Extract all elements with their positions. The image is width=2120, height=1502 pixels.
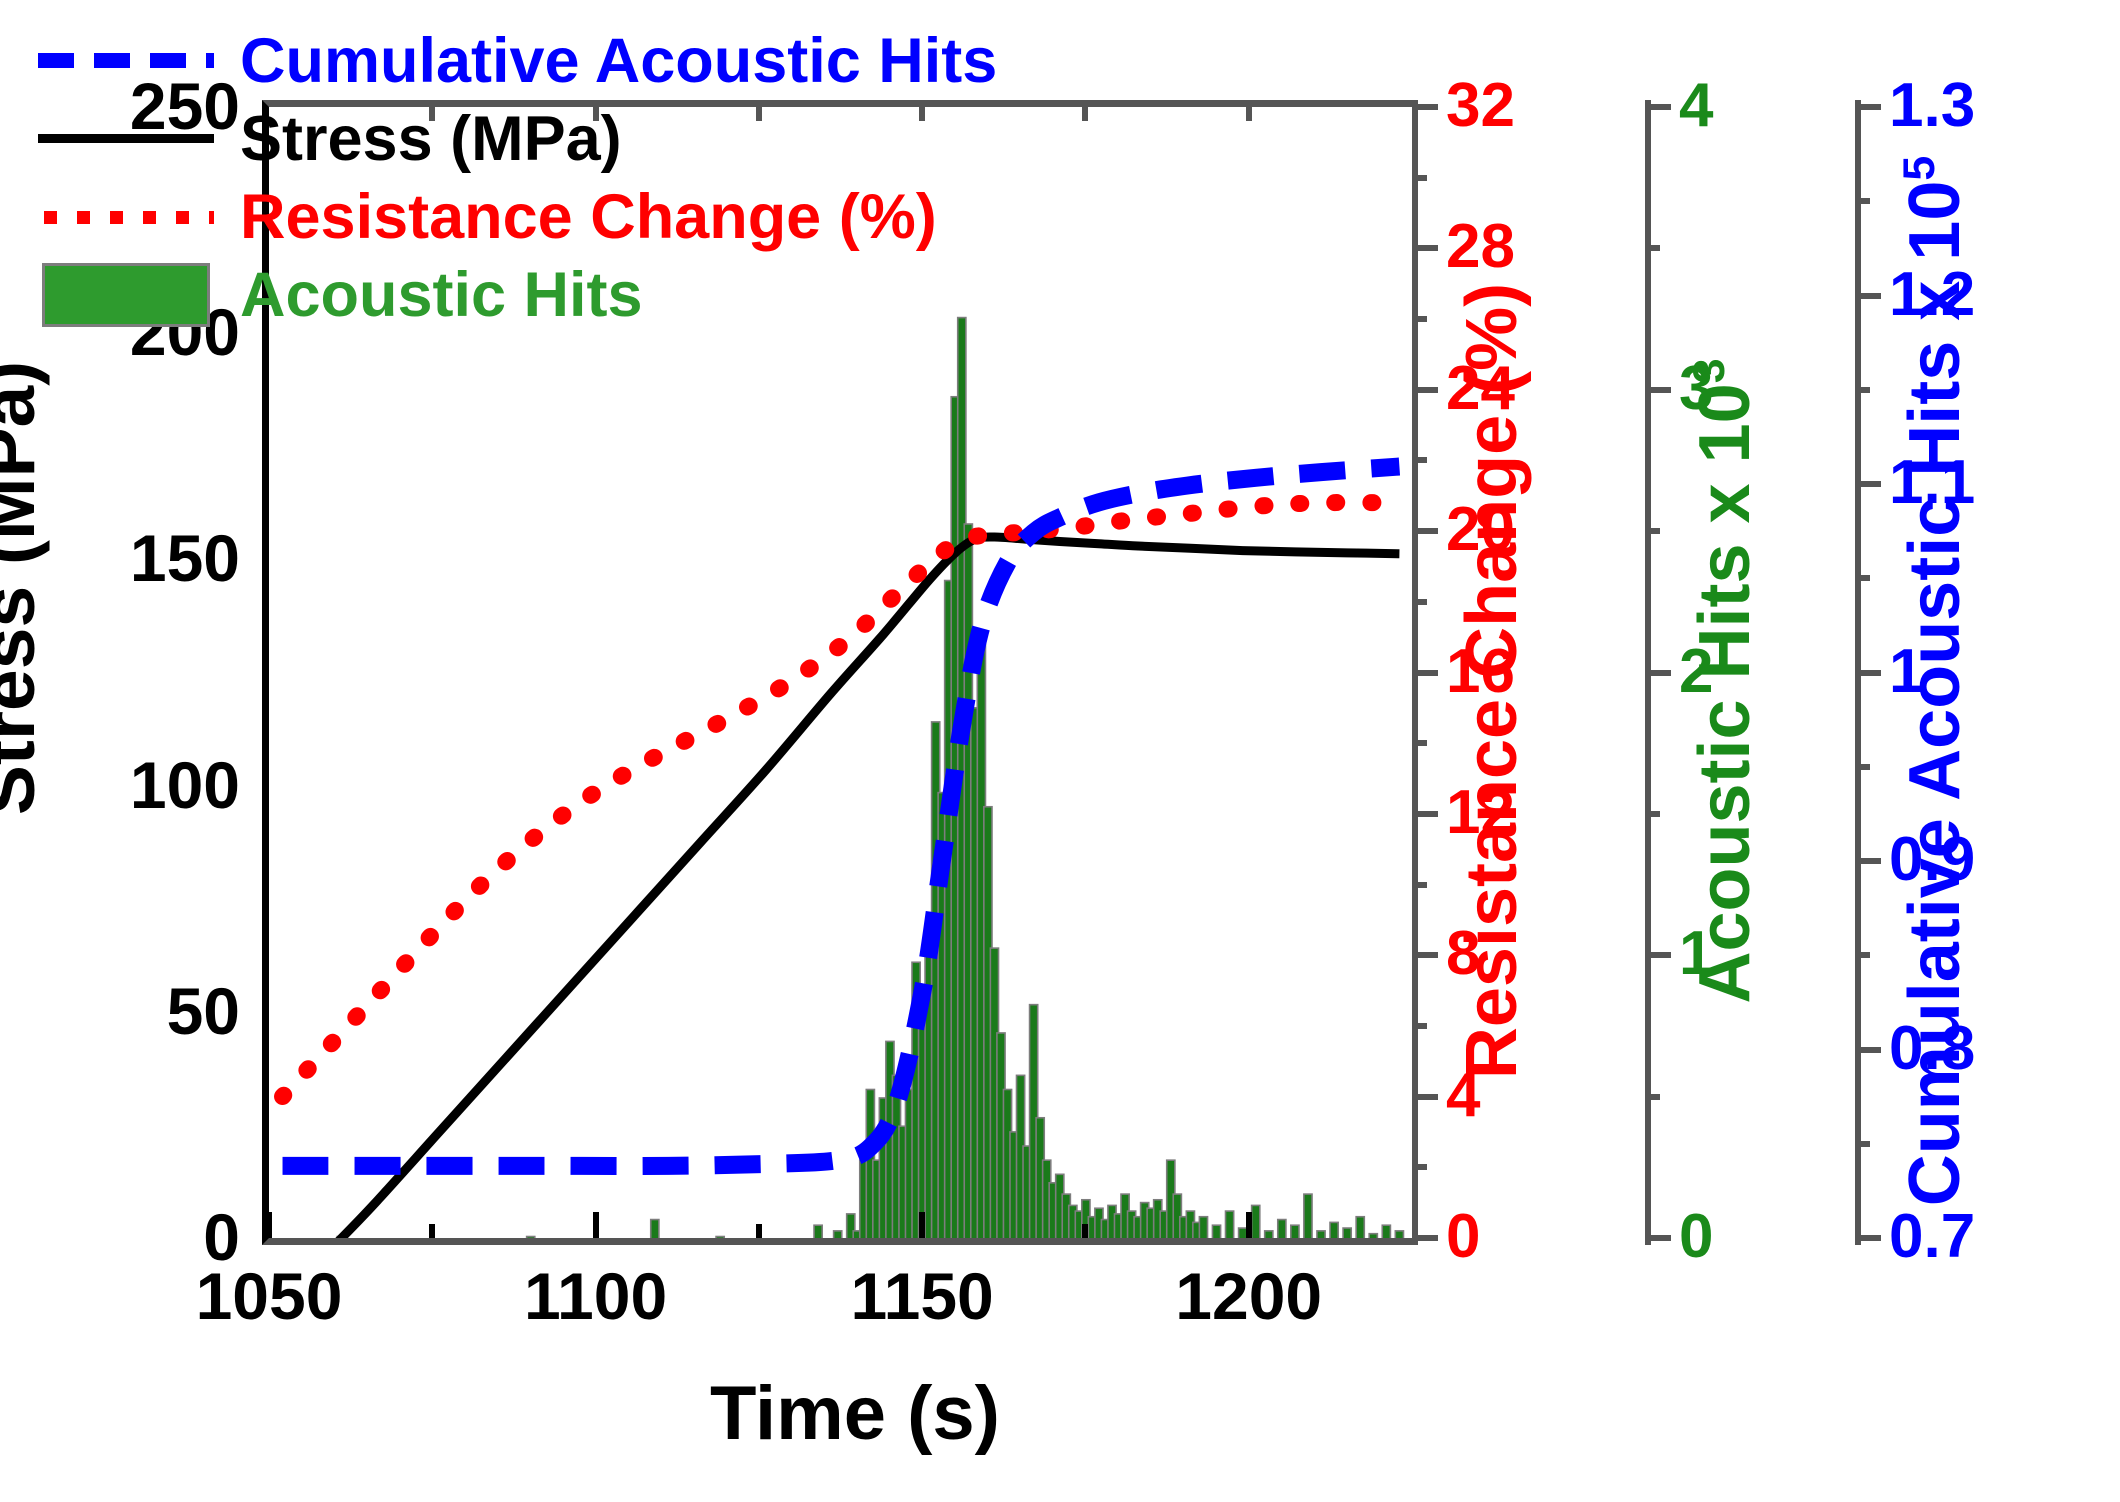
x-minor-tick-mark <box>429 1224 435 1238</box>
bar <box>1317 1231 1325 1238</box>
bar <box>814 1225 822 1238</box>
axis-tick-mark <box>1855 858 1881 864</box>
axis-title: Cumulative Acoustic Hits x 105 <box>1894 81 1976 1281</box>
axis-minor-tick-mark <box>1645 245 1660 251</box>
axis-minor-tick-mark <box>1412 1164 1427 1170</box>
x-tick-mark <box>266 1212 272 1238</box>
x-tick-label: 1150 <box>802 1258 1042 1334</box>
axis-tick-mark <box>1855 481 1881 487</box>
legend-swatch-mark <box>38 53 214 68</box>
axis-minor-tick-mark <box>1855 387 1870 393</box>
bar <box>1356 1217 1364 1238</box>
series-line <box>283 503 1400 1097</box>
axis-minor-tick-mark <box>1645 528 1660 534</box>
axis-tick-mark <box>1855 293 1881 299</box>
series-line <box>283 467 1400 1166</box>
axis-minor-tick-mark <box>1412 457 1427 463</box>
x-axis-title: Time (s) <box>595 1370 1115 1457</box>
axis-minor-tick-mark <box>1855 1141 1870 1147</box>
axis-tick-mark <box>1645 670 1671 676</box>
x-tick-mark <box>593 1212 599 1238</box>
axis-minor-tick-mark <box>1645 1094 1660 1100</box>
legend-swatch-dotted <box>38 197 214 237</box>
axis-title: Acoustic Hits x 103 <box>1684 81 1766 1281</box>
x-tick-label: 1100 <box>476 1258 716 1334</box>
axis-tick-mark <box>1412 811 1438 817</box>
legend-label: Acoustic Hits <box>240 264 643 327</box>
axis-minor-tick-mark <box>1855 575 1870 581</box>
axis-minor-tick-mark <box>1412 1023 1427 1029</box>
bar <box>1226 1211 1234 1238</box>
legend-swatch-mark <box>38 134 214 143</box>
legend-swatch-mark <box>42 263 210 327</box>
axis-minor-tick-mark <box>1412 882 1427 888</box>
axis-tick-mark <box>1645 104 1671 110</box>
axis-tick-mark <box>1855 104 1881 110</box>
bar <box>1369 1234 1377 1238</box>
axis-title-text: Resistance Change (%) <box>1452 283 1532 1079</box>
legend-item[interactable]: Stress (MPa) <box>38 100 997 178</box>
bar <box>1252 1205 1260 1238</box>
axis-tick-mark <box>1412 952 1438 958</box>
x-tick-label: 1050 <box>149 1258 389 1334</box>
axis-tick-mark <box>1855 1235 1881 1241</box>
bar <box>1343 1228 1351 1238</box>
legend: Cumulative Acoustic HitsStress (MPa)Resi… <box>38 22 997 334</box>
legend-swatch-solid <box>38 119 214 159</box>
bar <box>834 1231 842 1238</box>
axis-tick-mark <box>1645 1235 1671 1241</box>
x-minor-tick-mark <box>1082 1224 1088 1238</box>
legend-swatch-bar <box>38 275 214 315</box>
bar <box>1212 1225 1220 1238</box>
axis-minor-tick-mark <box>1855 198 1870 204</box>
legend-item[interactable]: Acoustic Hits <box>38 256 997 334</box>
axis-minor-tick-mark <box>1412 175 1427 181</box>
bar <box>1382 1225 1390 1238</box>
axis-tick-mark <box>1412 387 1438 393</box>
legend-label: Cumulative Acoustic Hits <box>240 30 997 93</box>
bar <box>1278 1220 1286 1238</box>
legend-swatch-mark <box>44 211 214 224</box>
bar <box>527 1237 535 1238</box>
axis-tick-mark <box>1645 952 1671 958</box>
legend-swatch-dashed <box>38 41 214 81</box>
x-tick-mark <box>1246 1212 1252 1238</box>
x-top-tick-mark <box>1246 107 1252 121</box>
bar <box>1265 1231 1273 1238</box>
legend-item[interactable]: Resistance Change (%) <box>38 178 997 256</box>
axis-tick-mark <box>1855 670 1881 676</box>
bar <box>1395 1231 1403 1238</box>
axis-title-text: Cumulative Acoustic Hits x 10 <box>1895 181 1975 1207</box>
axis-minor-tick-mark <box>1645 811 1660 817</box>
axis-minor-tick-mark <box>1412 316 1427 322</box>
axis-tick-mark <box>1412 104 1438 110</box>
axis-tick-mark <box>1412 1235 1438 1241</box>
axis-tick-mark <box>1855 1047 1881 1053</box>
bar <box>716 1237 724 1238</box>
axis-minor-tick-mark <box>1412 740 1427 746</box>
bar <box>1291 1225 1299 1238</box>
legend-item[interactable]: Cumulative Acoustic Hits <box>38 22 997 100</box>
bar <box>651 1220 659 1238</box>
axis-tick-mark <box>1412 1094 1438 1100</box>
axis-minor-tick-mark <box>1855 764 1870 770</box>
axis-title: Resistance Change (%) <box>1451 81 1533 1281</box>
axis-title-exponent: 3 <box>1685 358 1734 383</box>
x-tick-label: 1200 <box>1129 1258 1369 1334</box>
x-tick-mark <box>919 1212 925 1238</box>
y-tick-label: 50 <box>60 978 240 1044</box>
acoustic-hits-bars <box>337 318 1403 1238</box>
bar <box>1199 1217 1207 1238</box>
axis-tick-mark <box>1412 245 1438 251</box>
chart-figure: Stress (MPa) 050100150200250 10501100115… <box>0 0 2120 1502</box>
axis-tick-mark <box>1645 387 1671 393</box>
bar <box>1330 1222 1338 1238</box>
x-minor-tick-mark <box>756 1224 762 1238</box>
axis-minor-tick-mark <box>1412 599 1427 605</box>
legend-label: Resistance Change (%) <box>240 186 937 249</box>
bar <box>1304 1194 1312 1238</box>
axis-tick-mark <box>1412 670 1438 676</box>
y-tick-label: 100 <box>60 752 240 818</box>
axis-title-exponent: 5 <box>1895 156 1944 181</box>
x-top-tick-mark <box>1082 107 1088 121</box>
legend-label: Stress (MPa) <box>240 108 622 171</box>
axis-minor-tick-mark <box>1855 952 1870 958</box>
axis-tick-mark <box>1412 528 1438 534</box>
axis-title-text: Acoustic Hits x 10 <box>1685 383 1765 1003</box>
y-tick-label: 150 <box>60 525 240 591</box>
